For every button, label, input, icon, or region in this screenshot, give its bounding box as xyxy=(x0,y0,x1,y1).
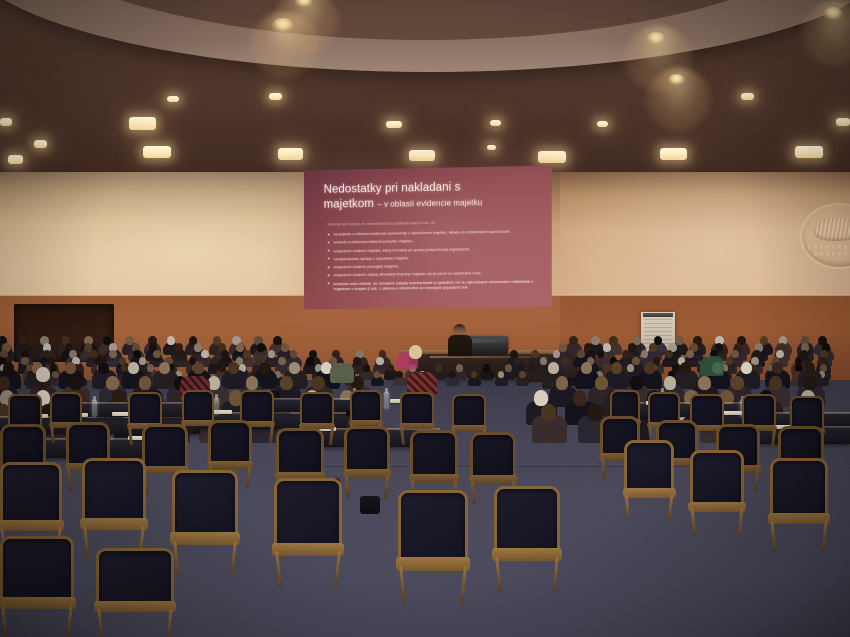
chair-seat xyxy=(343,469,392,478)
chair-seat xyxy=(170,532,240,544)
banquet-chair xyxy=(494,486,560,590)
audience-head xyxy=(622,350,630,358)
chair-back xyxy=(452,394,486,427)
banquet-chair xyxy=(344,426,390,498)
chair-back xyxy=(350,390,382,422)
audience-head xyxy=(548,362,559,374)
conference-hall-photo: Nedostatky pri nakladani s majetkom – v … xyxy=(0,0,850,637)
audience-head xyxy=(52,371,59,378)
audience-crowd xyxy=(0,0,850,637)
audience-head xyxy=(680,362,691,374)
audience-head xyxy=(505,364,512,372)
audience-head xyxy=(611,362,622,374)
audience-head xyxy=(246,376,259,390)
chair-seat xyxy=(396,557,470,570)
banquet-chair xyxy=(96,548,174,637)
audience-head xyxy=(569,336,578,345)
audience-head xyxy=(449,371,456,378)
chair-seat xyxy=(0,520,64,532)
chair-leg xyxy=(269,425,274,443)
chair-leg xyxy=(771,521,777,552)
chair-back xyxy=(0,462,62,523)
chair-leg xyxy=(67,468,72,491)
chair-back xyxy=(82,458,146,522)
audience-head xyxy=(603,343,611,352)
audience-head xyxy=(561,357,568,365)
audience-head xyxy=(456,364,463,372)
audience-head xyxy=(627,364,634,372)
audience-head xyxy=(289,362,300,374)
audience-head-blonde xyxy=(409,345,422,359)
chair-leg xyxy=(166,609,172,637)
audience-head xyxy=(139,357,146,365)
audience-head xyxy=(664,376,677,390)
chair-leg xyxy=(83,526,90,560)
chair-seat xyxy=(272,543,344,556)
audience-head xyxy=(804,376,817,390)
audience-head xyxy=(632,357,639,365)
audience-head xyxy=(243,350,251,358)
audience-head xyxy=(306,357,313,365)
chair-leg xyxy=(334,551,341,588)
audience-head xyxy=(584,343,592,352)
chair-leg xyxy=(668,494,674,521)
chair-leg xyxy=(128,427,133,445)
audience-head xyxy=(800,350,808,358)
audience-head xyxy=(281,343,289,352)
audience-head xyxy=(581,362,592,374)
audience-head xyxy=(139,376,152,390)
audience-head xyxy=(698,376,711,390)
audience-head xyxy=(769,376,782,390)
chair-back xyxy=(344,426,390,472)
audience-head xyxy=(772,362,783,374)
chair-back xyxy=(300,392,334,425)
audience-head xyxy=(106,376,119,390)
chair-back xyxy=(398,490,468,562)
chair-leg xyxy=(98,609,104,637)
audience-head xyxy=(3,362,14,374)
audience-shoulders-accent xyxy=(330,363,354,383)
audience-head xyxy=(193,362,204,374)
chair-back xyxy=(770,458,828,517)
audience-head xyxy=(159,362,170,374)
banquet-chair xyxy=(172,470,238,574)
audience-head xyxy=(559,343,567,352)
chair-seat xyxy=(492,548,562,560)
audience-shoulders-accent xyxy=(700,356,724,376)
audience-head xyxy=(675,336,684,345)
audience-head xyxy=(528,364,535,372)
chair-back xyxy=(400,392,434,425)
chair-leg xyxy=(400,427,405,445)
audience-head xyxy=(514,357,521,365)
audience-head xyxy=(221,350,229,358)
audience-head xyxy=(65,362,76,374)
banquet-chair xyxy=(0,536,74,637)
audience-head xyxy=(591,336,600,345)
audience-head xyxy=(396,371,403,378)
audience-head xyxy=(363,364,370,372)
chair-seat xyxy=(207,461,254,469)
chair-back xyxy=(182,390,214,422)
chair-leg xyxy=(691,508,697,537)
chair-seat xyxy=(0,597,76,609)
audience-head xyxy=(531,350,539,358)
audience-head xyxy=(353,357,360,365)
chair-leg xyxy=(737,508,743,537)
audience-head xyxy=(519,371,526,378)
chair-back xyxy=(410,430,458,477)
chair-seat xyxy=(623,488,676,498)
chair-back xyxy=(208,420,252,464)
audience-head xyxy=(280,376,293,390)
chair-seat xyxy=(80,518,148,530)
chair-back xyxy=(8,394,42,427)
chair-leg xyxy=(1,605,8,637)
banquet-chair xyxy=(82,458,146,558)
water-bottle xyxy=(384,392,389,409)
audience-head xyxy=(376,357,383,365)
banquet-chair xyxy=(690,450,744,536)
chair-back xyxy=(690,450,744,505)
chair-back xyxy=(470,432,516,478)
chair-back xyxy=(494,486,560,553)
chair-back xyxy=(96,548,174,605)
audience-head xyxy=(257,343,265,352)
water-bottle xyxy=(92,400,97,417)
audience-head xyxy=(0,376,10,390)
audience-head xyxy=(435,364,442,372)
chair-leg xyxy=(66,605,73,637)
chair-leg xyxy=(625,494,631,521)
audience-head xyxy=(630,376,643,390)
chair-leg xyxy=(231,541,238,576)
chair-back xyxy=(240,390,274,423)
chair-leg xyxy=(399,566,406,604)
audience-head-grey xyxy=(36,367,50,382)
chair-leg xyxy=(246,466,251,489)
audience-head xyxy=(201,350,209,358)
chair-seat xyxy=(409,474,460,483)
audience-head xyxy=(644,362,655,374)
audience-head xyxy=(573,390,587,406)
audience-head xyxy=(649,343,657,352)
chair-leg xyxy=(275,551,282,588)
chair-leg xyxy=(553,557,560,592)
audience-head xyxy=(98,362,109,374)
chair-back xyxy=(276,428,324,475)
audience-head xyxy=(387,364,394,372)
chair-leg xyxy=(600,458,605,479)
chair-back xyxy=(274,478,342,547)
chair-leg xyxy=(821,521,827,552)
audience-head xyxy=(236,343,244,352)
chair-leg xyxy=(754,470,759,493)
chair-seat xyxy=(399,423,435,429)
chair-back xyxy=(0,536,74,601)
chair-back xyxy=(172,470,238,537)
chair-back xyxy=(128,392,162,425)
chair-leg xyxy=(471,481,477,505)
chair-leg xyxy=(345,475,351,499)
audience-head xyxy=(167,336,176,345)
chair-back xyxy=(624,440,674,491)
chair-seat xyxy=(94,601,177,612)
chair-seat xyxy=(768,513,829,524)
audience-head xyxy=(228,362,239,374)
audience-head xyxy=(69,376,82,390)
audience-head xyxy=(259,362,270,374)
chair-seat xyxy=(688,502,745,512)
audience-head xyxy=(541,404,557,421)
banquet-chair xyxy=(398,490,468,602)
audience-head xyxy=(153,350,161,358)
audience-head xyxy=(595,376,608,390)
handbag xyxy=(360,496,380,514)
audience-head xyxy=(609,336,618,345)
chair-seat xyxy=(469,475,518,484)
audience-head xyxy=(177,350,185,358)
audience-head xyxy=(540,357,547,365)
water-bottle xyxy=(214,398,219,415)
audience-head xyxy=(556,376,569,390)
chair-leg xyxy=(384,475,390,499)
audience-head xyxy=(726,357,733,365)
banquet-chair xyxy=(624,440,674,520)
audience-head xyxy=(483,364,490,372)
chair-leg xyxy=(460,566,467,604)
audience-head xyxy=(731,376,744,390)
banquet-chair xyxy=(770,458,828,550)
audience-head xyxy=(278,357,285,365)
audience-head xyxy=(804,362,815,374)
audience-head xyxy=(219,364,226,372)
chair-back xyxy=(50,392,82,424)
banquet-chair xyxy=(274,478,342,586)
audience-head xyxy=(128,362,139,374)
audience-head xyxy=(312,376,325,390)
audience-head xyxy=(741,362,752,374)
audience-head xyxy=(273,336,282,345)
chair-back xyxy=(742,394,776,427)
chair-leg xyxy=(495,557,502,592)
audience-head xyxy=(577,350,585,358)
chair-back xyxy=(142,424,188,469)
chair-leg xyxy=(329,427,334,445)
chair-leg xyxy=(50,426,55,443)
chair-leg xyxy=(771,429,776,447)
